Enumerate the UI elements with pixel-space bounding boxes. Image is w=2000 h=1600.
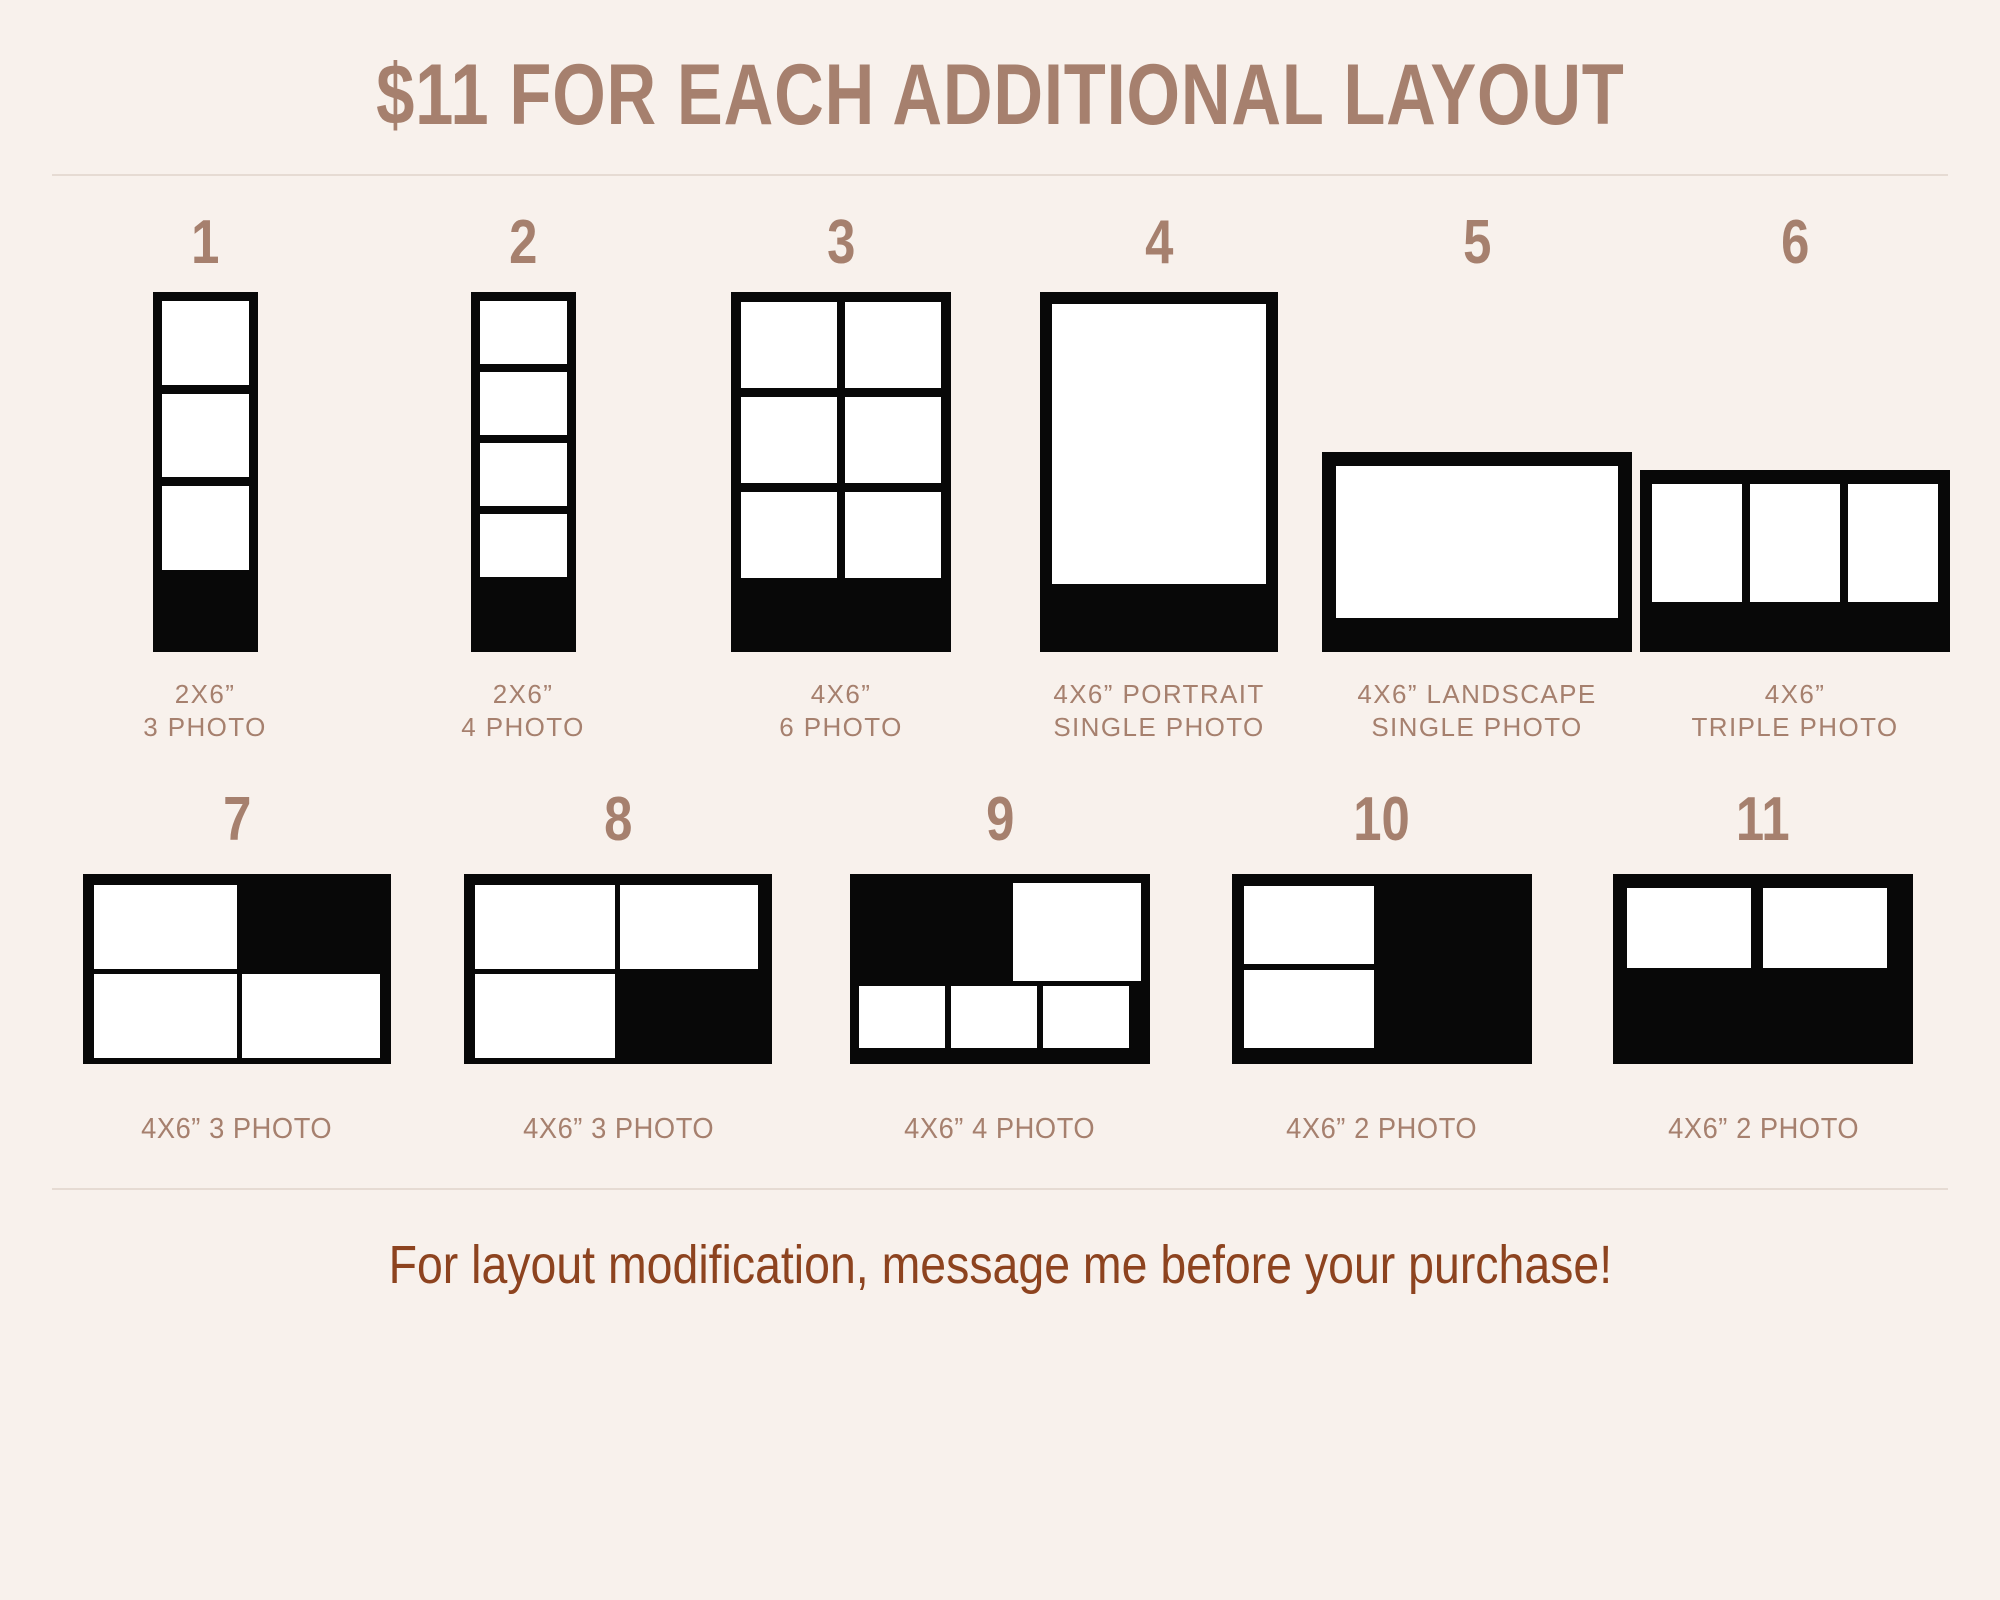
- photo-slot: [1244, 970, 1374, 1048]
- layout-preview-8: [464, 869, 772, 1069]
- collage-row: [859, 883, 1141, 981]
- triple-photo-frame: [1640, 470, 1950, 652]
- photo-slot: [1244, 886, 1374, 964]
- photo-slot: [162, 486, 249, 570]
- photo-grid-row: [741, 397, 941, 483]
- photo-slot: [475, 974, 615, 1058]
- layout-option-9[interactable]: 9 4X6” 4 PHOTO: [809, 789, 1191, 1148]
- collage-row: [94, 974, 380, 1058]
- layout-preview-5: [1322, 292, 1632, 652]
- layout-caption: 4X6” 4 PHOTO: [904, 1111, 1095, 1148]
- photo-slot: [480, 514, 567, 577]
- layout-option-8[interactable]: 8 4X6” 3 PHOTO: [428, 789, 810, 1148]
- photo-slot: [480, 443, 567, 506]
- photo-slot: [845, 492, 941, 578]
- photo-slot: [620, 885, 758, 969]
- layout-preview-3: [731, 292, 951, 652]
- layout-number: 11: [1736, 789, 1790, 851]
- portrait-single-frame: [1040, 292, 1278, 652]
- photo-slot: [1652, 484, 1742, 602]
- photo-strip-frame: [471, 292, 576, 652]
- photo-slot: [162, 301, 249, 385]
- layout-number: 9: [986, 789, 1014, 851]
- photo-slot: [1013, 883, 1141, 981]
- layout-option-2[interactable]: 2 2X6” 4 PHOTO: [364, 212, 682, 745]
- frame-footer-bar: [741, 578, 941, 652]
- layout-preview-10: [1232, 869, 1532, 1069]
- collage-row: [94, 885, 380, 969]
- layout-number: 6: [1781, 212, 1809, 274]
- photo-slot: [1627, 888, 1751, 968]
- layout-number: 3: [827, 212, 855, 274]
- layout-preview-4: [1040, 292, 1278, 652]
- layout-option-1[interactable]: 1 2X6” 3 PHOTO: [46, 212, 364, 745]
- photo-slot: [94, 885, 237, 969]
- layout-option-4[interactable]: 4 4X6” PORTRAIT SINGLE PHOTO: [1000, 212, 1318, 745]
- photo-slot: [1043, 986, 1129, 1048]
- frame-footer-bar: [1336, 618, 1618, 652]
- layout-caption: 2X6” 4 PHOTO: [461, 678, 584, 745]
- layout-option-11[interactable]: 11 4X6” 2 PHOTO: [1572, 789, 1954, 1148]
- landscape-single-frame: [1322, 452, 1632, 652]
- photo-grid-row: [741, 492, 941, 578]
- collage-frame: [1613, 874, 1913, 1064]
- page-title: $11 FOR EACH ADDITIONAL LAYOUT: [376, 52, 1625, 138]
- photo-grid-row: [1652, 484, 1938, 602]
- layout-number: 10: [1353, 789, 1410, 851]
- collage-row: [475, 974, 761, 1058]
- layout-preview-6: [1640, 292, 1950, 652]
- collage-row: [475, 885, 761, 969]
- layout-number: 1: [191, 212, 219, 274]
- header: $11 FOR EACH ADDITIONAL LAYOUT: [0, 0, 2000, 138]
- layout-row-second: 7 4X6” 3 PHOTO 8: [0, 745, 2000, 1148]
- frame-footer-bar: [480, 577, 567, 650]
- frame-spacer: [859, 883, 1001, 981]
- footer: For layout modification, message me befo…: [0, 1190, 2000, 1292]
- collage-frame: [464, 874, 772, 1064]
- layout-option-6[interactable]: 6 4X6” TRIPLE PHOTO: [1636, 212, 1954, 745]
- layout-preview-7: [83, 869, 391, 1069]
- frame-footer-bar: [1052, 584, 1266, 652]
- layout-number: 2: [509, 212, 537, 274]
- layout-option-10[interactable]: 10 4X6” 2 PHOTO: [1191, 789, 1573, 1148]
- layout-caption: 4X6” 3 PHOTO: [523, 1111, 714, 1148]
- photo-slot: [480, 301, 567, 364]
- layout-caption: 4X6” 2 PHOTO: [1286, 1111, 1477, 1148]
- frame-footer-bar: [162, 570, 249, 653]
- layout-preview-2: [471, 292, 576, 652]
- collage-row: [859, 986, 1141, 1048]
- layout-preview-11: [1613, 869, 1913, 1069]
- layout-option-7[interactable]: 7 4X6” 3 PHOTO: [46, 789, 428, 1148]
- photo-slot: [741, 397, 837, 483]
- photo-grid-frame: [731, 292, 951, 652]
- layout-number: 5: [1463, 212, 1491, 274]
- layout-number: 7: [223, 789, 251, 851]
- layout-number: 8: [604, 789, 632, 851]
- photo-slot: [1763, 888, 1887, 968]
- layout-option-3[interactable]: 3 4X6”: [682, 212, 1000, 745]
- photo-slot: [1336, 466, 1618, 618]
- collage-frame: [850, 874, 1150, 1064]
- photo-grid-row: [741, 302, 941, 388]
- layout-caption: 4X6” LANDSCAPE SINGLE PHOTO: [1357, 678, 1596, 745]
- photo-slot: [1848, 484, 1938, 602]
- footer-note: For layout modification, message me befo…: [388, 1238, 1612, 1292]
- layout-number: 4: [1145, 212, 1173, 274]
- photo-slot: [951, 986, 1037, 1048]
- layout-caption: 4X6” 6 PHOTO: [779, 678, 902, 745]
- photo-strip-frame: [153, 292, 258, 652]
- layout-caption: 2X6” 3 PHOTO: [143, 678, 266, 745]
- collage-frame: [83, 874, 391, 1064]
- layout-preview-1: [153, 292, 258, 652]
- layout-preview-9: [850, 869, 1150, 1069]
- photo-slot: [480, 372, 567, 435]
- photo-slot: [845, 397, 941, 483]
- layout-row-first: 1 2X6” 3 PHOTO 2: [0, 176, 2000, 745]
- layout-caption: 4X6” 2 PHOTO: [1668, 1111, 1859, 1148]
- layout-caption: 4X6” PORTRAIT SINGLE PHOTO: [1053, 678, 1264, 745]
- photo-slot: [741, 492, 837, 578]
- photo-slot: [845, 302, 941, 388]
- frame-footer-bar: [1652, 602, 1938, 652]
- photo-slot: [741, 302, 837, 388]
- photo-slot: [1052, 304, 1266, 584]
- layout-caption: 4X6” TRIPLE PHOTO: [1691, 678, 1898, 745]
- photo-slot: [242, 974, 380, 1058]
- layout-caption: 4X6” 3 PHOTO: [141, 1111, 332, 1148]
- photo-slot: [475, 885, 615, 969]
- photo-slot: [1750, 484, 1840, 602]
- photo-slot: [162, 394, 249, 478]
- collage-frame: [1232, 874, 1532, 1064]
- layout-option-5[interactable]: 5 4X6” LANDSCAPE SINGLE PHOTO: [1318, 212, 1636, 745]
- layout-options-poster: $11 FOR EACH ADDITIONAL LAYOUT 1 2X6” 3 …: [0, 0, 2000, 1600]
- photo-slot: [859, 986, 945, 1048]
- collage-row: [1627, 888, 1899, 968]
- photo-slot: [94, 974, 237, 1058]
